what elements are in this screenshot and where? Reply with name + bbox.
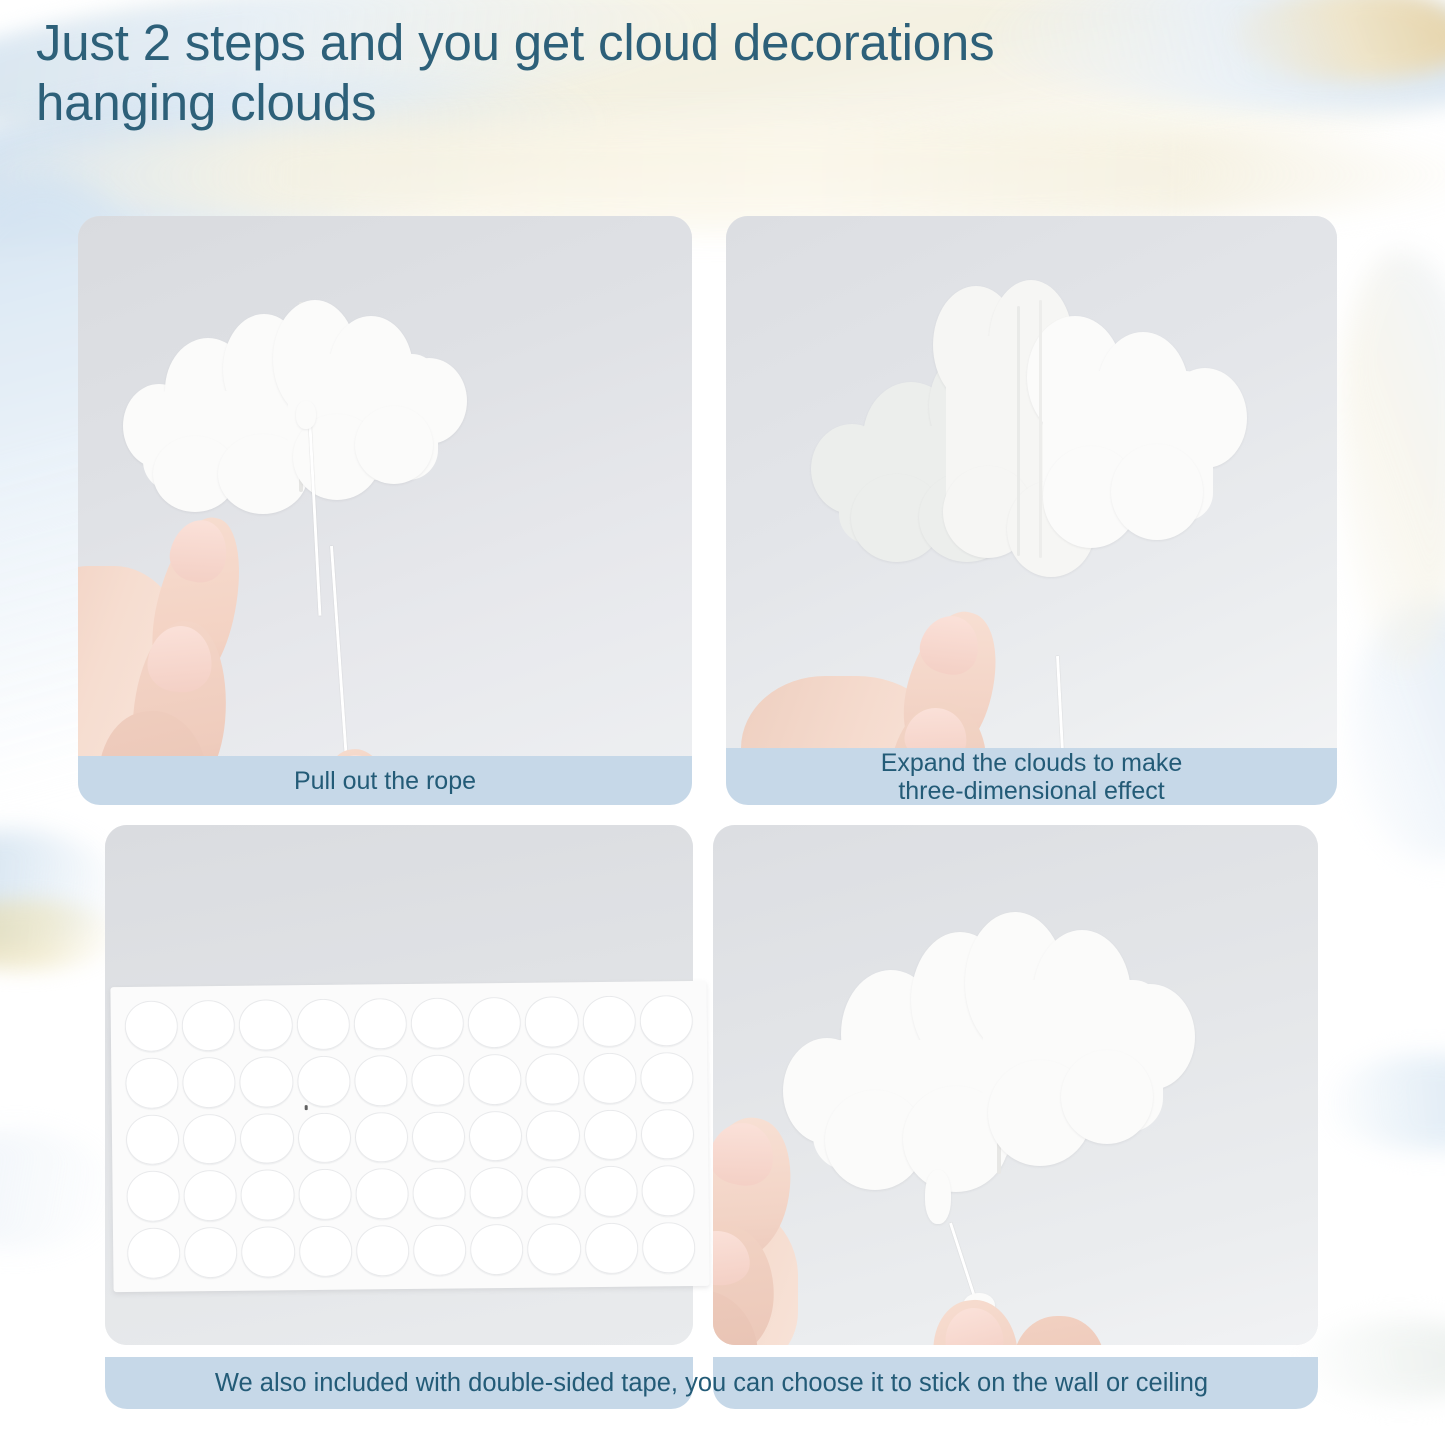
tape-dot	[240, 1056, 294, 1107]
tape-dot	[639, 995, 693, 1046]
tape-dot	[642, 1222, 696, 1273]
tape-dot	[126, 1114, 180, 1165]
tape-dot	[182, 1000, 236, 1051]
string-bead	[296, 401, 316, 429]
cloud-bead	[925, 1170, 951, 1224]
tape-dot	[355, 1112, 409, 1163]
tape-dot	[125, 1000, 179, 1051]
tape-dot	[412, 1111, 466, 1162]
tape-dot	[641, 1165, 695, 1216]
tape-dot	[184, 1170, 238, 1221]
panel-stick-cloud	[713, 825, 1318, 1345]
tape-dot	[470, 1224, 524, 1275]
tape-dot	[468, 997, 522, 1048]
caption-pull-rope: Pull out the rope	[78, 756, 692, 805]
panel-stick-cloud-photo	[713, 825, 1318, 1345]
caption-expand-clouds: Expand the clouds to make three-dimensio…	[726, 748, 1337, 805]
tape-dot	[240, 1113, 294, 1164]
tape-dot	[126, 1171, 180, 1222]
tape-dot	[468, 1054, 522, 1105]
tape-dot	[182, 1057, 236, 1108]
tape-dot	[356, 1225, 410, 1276]
tape-dot	[297, 1055, 351, 1106]
tape-dot	[469, 1110, 523, 1161]
cloud-expanded-3d	[811, 276, 1251, 606]
tape-dot	[585, 1223, 639, 1274]
panel-expand-clouds	[726, 216, 1337, 804]
tape-dot	[184, 1227, 238, 1278]
panel-pull-rope	[78, 216, 692, 804]
tape-dot	[355, 1168, 409, 1219]
tape-dot	[527, 1223, 581, 1274]
tape-dot	[583, 1052, 637, 1103]
tape-dot	[526, 1053, 580, 1104]
tape-dot	[526, 1110, 580, 1161]
bg-wash-bottom-left	[0, 1130, 120, 1250]
panel-expand-clouds-photo	[726, 216, 1337, 804]
tape-dot	[354, 1055, 408, 1106]
tape-dot	[296, 999, 350, 1050]
tape-dot	[641, 1109, 695, 1160]
tape-dot	[411, 1054, 465, 1105]
cloud-flat	[123, 296, 468, 511]
tape-dot-grid	[125, 995, 696, 1279]
hand-gripping-cloud	[713, 1125, 918, 1345]
bg-wash-blue-lower-right	[1325, 1055, 1445, 1150]
tape-dot	[298, 1169, 352, 1220]
tape-dot	[470, 1167, 524, 1218]
tape-dot	[583, 1109, 637, 1160]
caption-double-sided-tape: We also included with double-sided tape,…	[105, 1357, 1318, 1409]
tape-dot	[584, 1166, 638, 1217]
hand-pinching-bead	[923, 1290, 1143, 1345]
tape-dot	[183, 1113, 237, 1164]
tape-dot	[299, 1226, 353, 1277]
tape-dot	[241, 1226, 295, 1277]
page-title: Just 2 steps and you get cloud decoratio…	[36, 13, 1416, 133]
double-sided-tape-sheet	[110, 981, 709, 1292]
tape-dot	[640, 1052, 694, 1103]
tape-dot	[527, 1167, 581, 1218]
bg-wash-cream-right	[1340, 250, 1445, 670]
panel-pull-rope-photo	[78, 216, 692, 804]
tape-dot	[413, 1225, 467, 1276]
tape-dot	[353, 998, 407, 1049]
tape-dot	[297, 1112, 351, 1163]
bg-wash-bottom-right	[1300, 1320, 1445, 1400]
tape-dot	[412, 1168, 466, 1219]
bg-wash-cream-mid	[0, 120, 1445, 230]
tape-dot	[241, 1170, 295, 1221]
tape-dot	[127, 1228, 181, 1279]
tape-dot	[239, 999, 293, 1050]
tape-dot	[125, 1057, 179, 1108]
tape-dot	[525, 996, 579, 1047]
tape-dot	[582, 996, 636, 1047]
tape-dot	[411, 997, 465, 1048]
